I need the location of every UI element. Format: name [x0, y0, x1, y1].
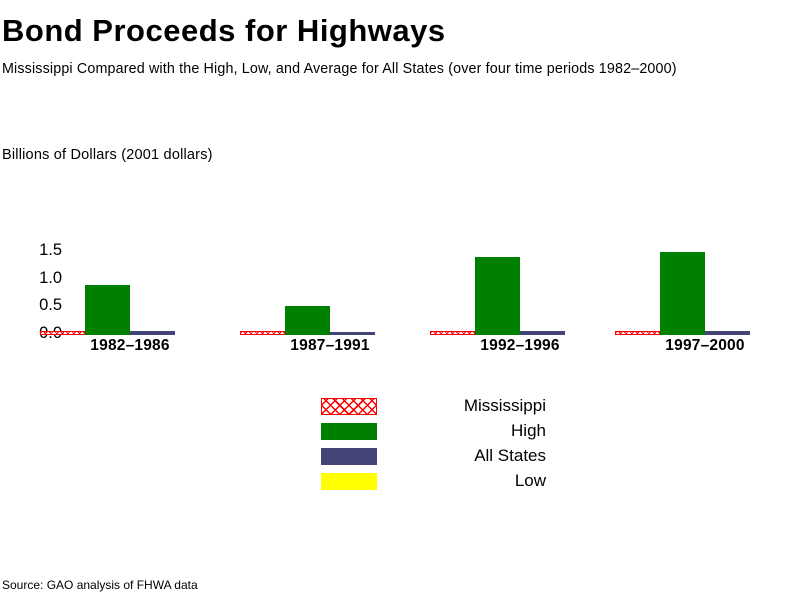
chart-title: Bond Proceeds for Highways — [2, 14, 446, 48]
bar-high — [475, 257, 520, 335]
bar-mississippi — [240, 331, 285, 335]
x-axis-category-label: 1987–1991 — [240, 337, 420, 355]
legend-label: Mississippi — [381, 395, 546, 417]
bar-mississippi — [40, 331, 85, 335]
bar-group: 1982–1986 — [40, 215, 220, 335]
y-axis-unit-label: Billions of Dollars (2001 dollars) — [2, 146, 213, 164]
legend-swatch-mississippi — [321, 398, 377, 415]
bar-mississippi — [615, 331, 660, 335]
legend-swatch-all-states — [321, 448, 377, 465]
legend-label: Low — [381, 470, 546, 492]
legend-swatch-high — [321, 423, 377, 440]
legend-label: High — [381, 420, 546, 442]
bar-group: 1997–2000 — [615, 215, 795, 335]
legend-item: Low — [321, 473, 621, 498]
plot-area: 0.00.51.01.5 1982–19861987–19911992–1996… — [0, 200, 800, 335]
chart-legend: MississippiHighAll StatesLow — [321, 398, 621, 498]
bar-high — [85, 285, 130, 335]
x-axis-category-label: 1997–2000 — [615, 337, 795, 355]
chart-subtitle: Mississippi Compared with the High, Low,… — [2, 61, 677, 78]
bar-all-states — [705, 331, 750, 335]
legend-swatch-low — [321, 473, 377, 490]
bar-all-states — [330, 332, 375, 335]
bar-all-states — [520, 331, 565, 335]
bar-group: 1992–1996 — [430, 215, 610, 335]
bar-group: 1987–1991 — [240, 215, 420, 335]
legend-label: All States — [381, 445, 546, 467]
bar-all-states — [130, 331, 175, 335]
chart-root: Bond Proceeds for Highways Mississippi C… — [0, 0, 800, 600]
source-note: Source: GAO analysis of FHWA data — [2, 578, 198, 593]
bar-mississippi — [430, 331, 475, 335]
bar-high — [660, 252, 705, 335]
bar-high — [285, 306, 330, 335]
x-axis-category-label: 1982–1986 — [40, 337, 220, 355]
x-axis-category-label: 1992–1996 — [430, 337, 610, 355]
